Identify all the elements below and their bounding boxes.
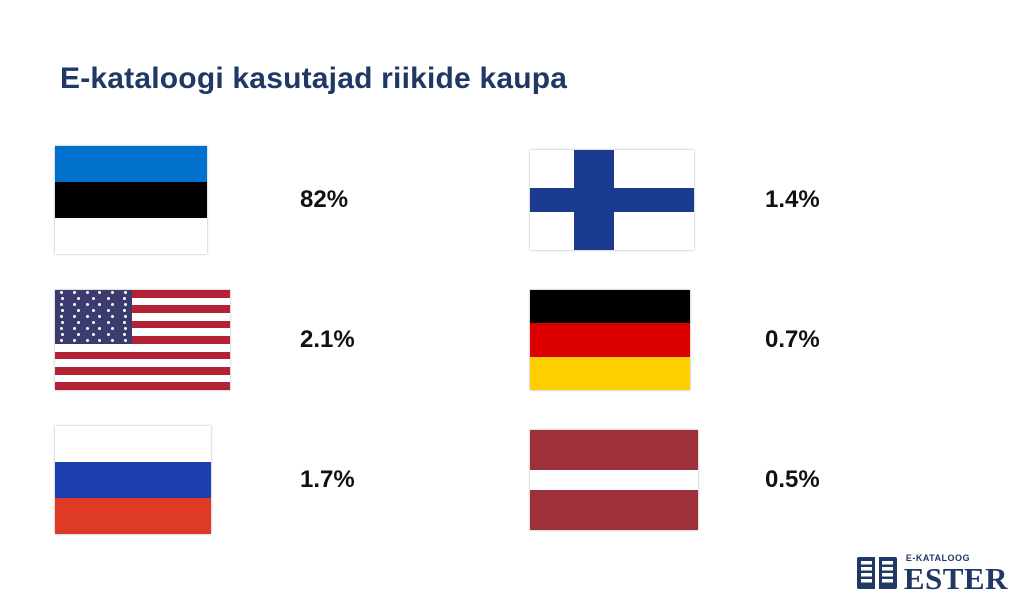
ester-logo: E-KATALOOG ESTER — [856, 552, 1008, 594]
grid-row: 82% 1.4% — [0, 130, 1030, 270]
usa-canton — [55, 290, 132, 344]
percent-value-latvia: 0.5% — [765, 466, 820, 494]
percent-value-russia: 1.7% — [300, 466, 355, 494]
flag-germany-icon — [530, 290, 690, 390]
flag-russia-icon — [55, 426, 211, 534]
country-entry-latvia: 0.5% — [515, 410, 1030, 550]
flag-container — [530, 424, 705, 536]
page-title: E-kataloogi kasutajad riikide kaupa — [60, 62, 567, 96]
percent-value-finland: 1.4% — [765, 186, 820, 214]
country-entry-russia: 1.7% — [0, 410, 515, 550]
flag-usa-icon — [55, 290, 230, 390]
flag-container — [530, 144, 705, 256]
flag-container — [530, 284, 705, 396]
flag-latvia-icon — [530, 430, 698, 530]
grid-row: 2.1% 0.7% — [0, 270, 1030, 410]
percent-value-usa: 2.1% — [300, 326, 355, 354]
logo-text: E-KATALOOG ESTER — [904, 553, 1008, 594]
flag-estonia-icon — [55, 146, 207, 254]
flag-finland-icon — [530, 150, 694, 250]
logo-title: ESTER — [904, 563, 1008, 594]
ester-book-icon — [856, 552, 898, 594]
country-entry-germany: 0.7% — [515, 270, 1030, 410]
country-entry-estonia: 82% — [0, 130, 515, 270]
slide-canvas: E-kataloogi kasutajad riikide kaupa 82% … — [0, 0, 1030, 608]
flag-container — [55, 144, 230, 256]
flag-container — [55, 424, 230, 536]
grid-row: 1.7% 0.5% — [0, 410, 1030, 550]
country-entry-finland: 1.4% — [515, 130, 1030, 270]
flag-container — [55, 284, 230, 396]
percent-value-germany: 0.7% — [765, 326, 820, 354]
country-grid: 82% 1.4% — [0, 130, 1030, 550]
percent-value-estonia: 82% — [300, 186, 348, 214]
country-entry-usa: 2.1% — [0, 270, 515, 410]
